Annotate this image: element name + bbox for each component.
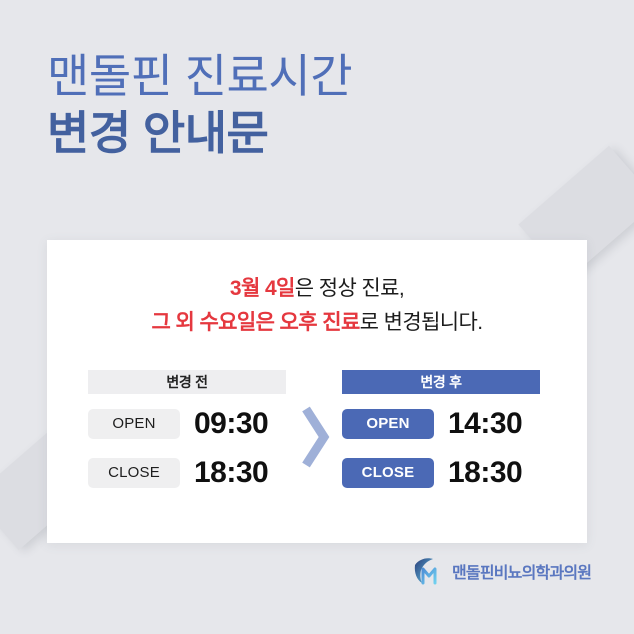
page-title-line-2: 변경 안내문 [47,104,352,162]
notice-line-1: 3월 4일은 정상 진료, [47,272,587,306]
close-label-before: CLOSE [88,458,180,488]
open-time-before: 09:30 [194,409,268,439]
notice-text-block: 3월 4일은 정상 진료, 그 외 수요일은 오후 진료로 변경됩니다. [47,272,587,340]
notice-card: 3월 4일은 정상 진료, 그 외 수요일은 오후 진료로 변경됩니다. 변경 … [47,240,587,543]
schedule-row-before-open: OPEN 09:30 [88,405,286,443]
schedule-comparison: 변경 전 OPEN 09:30 CLOSE 18:30 변경 후 OPEN 14… [47,370,587,500]
dolphin-m-logo-icon [413,556,445,586]
close-label-after: CLOSE [342,458,434,488]
clinic-logo: 맨돌핀비뇨의학과의원 [413,556,591,586]
page-title: 맨돌핀 진료시간 변경 안내문 [47,48,352,162]
schedule-column-after: 변경 후 OPEN 14:30 CLOSE 18:30 [342,370,540,492]
schedule-row-after-open: OPEN 14:30 [342,405,540,443]
schedule-row-after-close: CLOSE 18:30 [342,454,540,492]
close-time-after: 18:30 [448,458,522,488]
schedule-column-before: 변경 전 OPEN 09:30 CLOSE 18:30 [88,370,286,492]
notice-line-2: 그 외 수요일은 오후 진료로 변경됩니다. [47,306,587,340]
notice-line-1-highlight: 3월 4일 [230,277,295,300]
clinic-name: 맨돌핀비뇨의학과의원 [452,559,591,583]
schedule-header-after: 변경 후 [342,370,540,394]
schedule-row-before-close: CLOSE 18:30 [88,454,286,492]
open-label-before: OPEN [88,409,180,439]
close-time-before: 18:30 [194,458,268,488]
notice-line-1-rest: 은 정상 진료, [295,277,404,300]
notice-line-2-highlight: 그 외 수요일은 오후 진료 [152,311,360,334]
chevron-right-icon [300,406,330,468]
schedule-header-before: 변경 전 [88,370,286,394]
notice-line-2-rest: 로 변경됩니다. [360,311,483,334]
page-title-line-1: 맨돌핀 진료시간 [47,48,352,104]
open-label-after: OPEN [342,409,434,439]
open-time-after: 14:30 [448,409,522,439]
